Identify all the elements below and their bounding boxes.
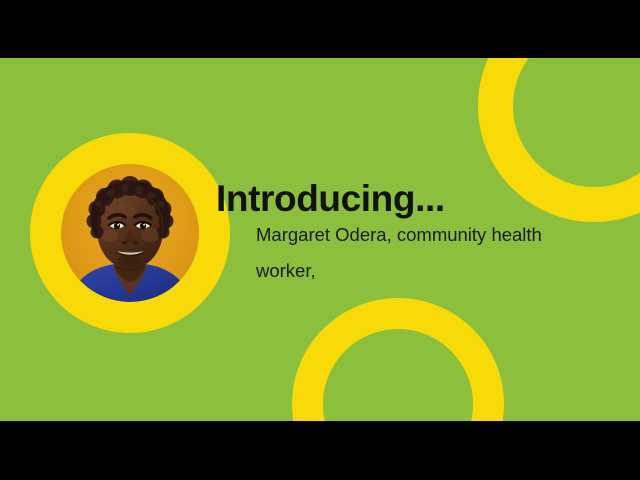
portrait-illustration-icon xyxy=(61,164,199,302)
letterbox-bar-top xyxy=(0,0,640,58)
presentation-slide: Introducing... Margaret Odera, community… xyxy=(0,58,640,421)
portrait-avatar xyxy=(30,133,230,333)
video-frame: Introducing... Margaret Odera, community… xyxy=(0,0,640,480)
decorative-ring-top-right-icon xyxy=(478,58,640,222)
letterbox-bar-bottom xyxy=(0,421,640,480)
portrait-photo xyxy=(61,164,199,302)
decorative-ring-bottom-center-icon xyxy=(292,298,504,421)
slide-body-text: Margaret Odera, community health worker, xyxy=(256,217,596,289)
slide-title: Introducing... xyxy=(216,180,445,219)
